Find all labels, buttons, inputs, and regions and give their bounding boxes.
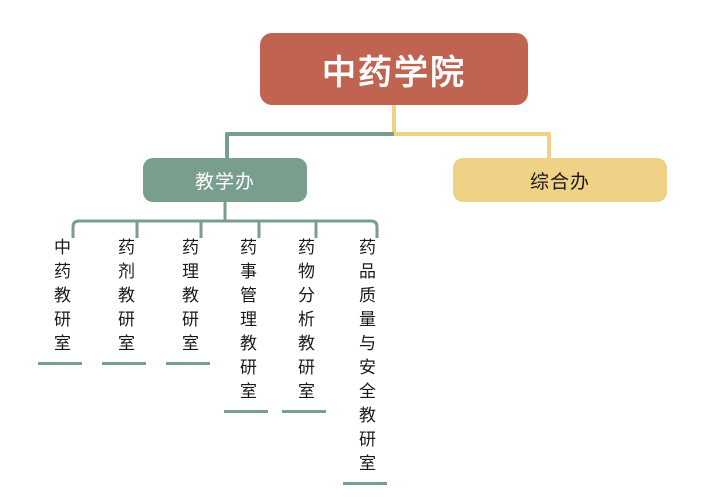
leaf-label: 药理教研室 [176,238,200,358]
node-teaching-office-label: 教学办 [195,167,255,194]
leaf-node[interactable]: 药物分析教研室 [284,238,324,413]
leaf-node[interactable]: 药理教研室 [168,238,208,365]
connector-bus-leaf-2 [137,221,225,238]
org-chart: 中药学院 教学办 综合办 中药教研室 药剂教研室 药理教研室 药事管理教研室 药… [0,0,710,503]
leaf-underline [38,362,82,365]
leaf-label: 药品质量与安全教研室 [353,238,377,478]
leaf-underline [166,362,210,365]
leaf-underline [343,482,387,485]
node-general-office-label: 综合办 [530,167,590,194]
leaf-node[interactable]: 药品质量与安全教研室 [345,238,385,485]
leaf-node[interactable]: 中药教研室 [40,238,80,365]
leaf-label: 药事管理教研室 [234,238,258,406]
connector-bus-leaf-5 [225,221,316,238]
leaf-node[interactable]: 药事管理教研室 [226,238,266,413]
leaf-label: 药物分析教研室 [292,238,316,406]
leaf-label: 中药教研室 [48,238,72,358]
leaf-label: 药剂教研室 [112,238,136,358]
node-teaching-office[interactable]: 教学办 [143,158,307,202]
leaf-underline [224,410,268,413]
connector-bus-leaf-4 [225,221,259,238]
connector-root-to-teaching [227,134,394,158]
node-root[interactable]: 中药学院 [260,33,528,105]
connector-root-to-general [394,105,549,158]
leaf-underline [282,410,326,413]
leaf-underline [102,362,146,365]
connector-bus-leaf-3 [201,221,225,238]
node-root-label: 中药学院 [322,45,466,94]
connector-bus-leaf-6 [225,221,377,238]
leaf-node[interactable]: 药剂教研室 [104,238,144,365]
node-general-office[interactable]: 综合办 [453,158,667,202]
